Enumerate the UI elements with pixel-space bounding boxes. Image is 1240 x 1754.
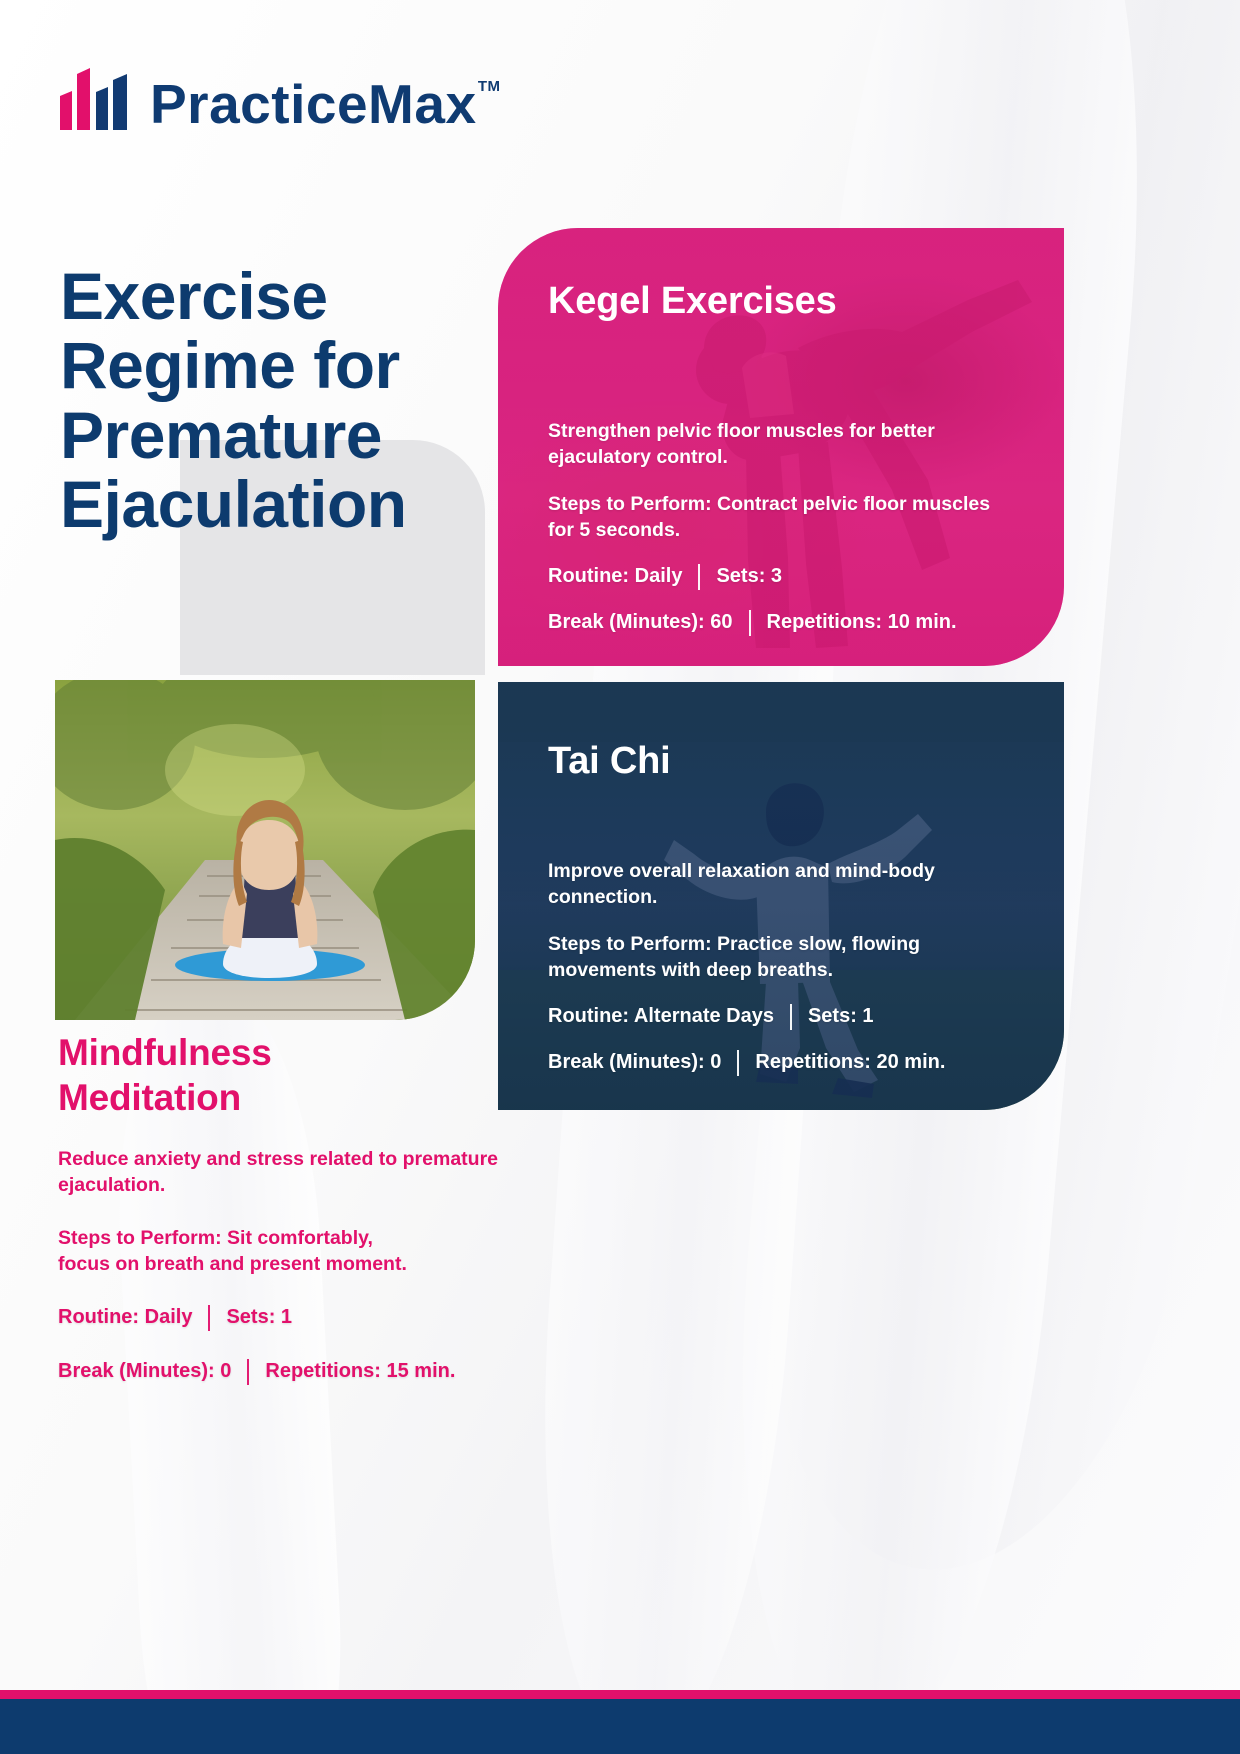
page-title-line-1: Exercise	[60, 259, 328, 333]
kegel-routine-row: Routine: Daily Sets: 3	[548, 564, 1018, 590]
exercise-card-kegel: Kegel Exercises Strengthen pelvic floor …	[498, 228, 1064, 666]
meditation-photo	[55, 680, 475, 1020]
meditation-sets-value: Sets: 1	[226, 1306, 292, 1329]
footer-bar	[0, 1699, 1240, 1754]
brand-name-text: PracticeMax	[150, 73, 477, 135]
divider-icon	[208, 1305, 210, 1331]
taichi-sets-value: Sets: 1	[808, 1005, 874, 1028]
brand-name: PracticeMax TM	[150, 77, 477, 132]
taichi-break-value: Break (Minutes): 0	[548, 1051, 721, 1074]
meditation-routine-value: Routine: Daily	[58, 1306, 192, 1329]
taichi-repetitions-value: Repetitions: 20 min.	[755, 1051, 945, 1074]
taichi-steps-text: Steps to Perform: Practice slow, flowing…	[548, 932, 1018, 983]
kegel-repetitions-value: Repetitions: 10 min.	[767, 611, 957, 634]
footer-accent-stripe	[0, 1690, 1240, 1699]
taichi-routine-row: Routine: Alternate Days Sets: 1	[548, 1004, 1018, 1030]
taichi-break-row: Break (Minutes): 0 Repetitions: 20 min.	[548, 1050, 1018, 1076]
bar-chart-logo-icon	[58, 66, 136, 132]
kegel-card-content: Kegel Exercises Strengthen pelvic floor …	[498, 228, 1064, 666]
taichi-card-content: Tai Chi Improve overall relaxation and m…	[498, 682, 1064, 1110]
meditation-steps-line-2: focus on breath and present moment.	[58, 1253, 407, 1275]
meditation-steps-text: Steps to Perform: Sit comfortably, focus…	[58, 1225, 528, 1277]
page-title-line-3: Premature	[60, 398, 382, 472]
kegel-break-value: Break (Minutes): 60	[548, 611, 733, 634]
meditation-heading: Mindfulness Meditation	[58, 1030, 528, 1120]
meditation-heading-line-2: Meditation	[58, 1077, 241, 1118]
meditation-routine-row: Routine: Daily Sets: 1	[58, 1305, 528, 1331]
divider-icon	[737, 1050, 739, 1076]
kegel-routine-value: Routine: Daily	[548, 565, 682, 588]
kegel-card-heading: Kegel Exercises	[548, 280, 1018, 323]
kegel-steps-text: Steps to Perform: Contract pelvic floor …	[548, 492, 1018, 543]
exercise-card-taichi: Tai Chi Improve overall relaxation and m…	[498, 682, 1064, 1110]
kegel-sets-value: Sets: 3	[716, 565, 782, 588]
divider-icon	[247, 1359, 249, 1385]
page-title: Exercise Regime for Premature Ejaculatio…	[60, 262, 490, 539]
meditation-heading-line-1: Mindfulness	[58, 1032, 272, 1073]
meditation-break-row: Break (Minutes): 0 Repetitions: 15 min.	[58, 1359, 528, 1385]
divider-icon	[698, 564, 700, 590]
meditation-steps-line-1: Steps to Perform: Sit comfortably,	[58, 1227, 373, 1249]
brand-logo: PracticeMax TM	[58, 66, 477, 132]
divider-icon	[790, 1004, 792, 1030]
page-title-line-4: Ejaculation	[60, 467, 407, 541]
meditation-benefit-text: Reduce anxiety and stress related to pre…	[58, 1146, 528, 1198]
poster-page: PracticeMax TM Exercise Regime for Prema…	[0, 0, 1240, 1754]
kegel-benefit-text: Strengthen pelvic floor muscles for bett…	[548, 419, 1018, 470]
kegel-break-row: Break (Minutes): 60 Repetitions: 10 min.	[548, 610, 1018, 636]
exercise-card-meditation: Mindfulness Meditation Reduce anxiety an…	[58, 1030, 528, 1385]
meditation-repetitions-value: Repetitions: 15 min.	[265, 1360, 455, 1383]
trademark-symbol: TM	[478, 79, 501, 94]
taichi-routine-value: Routine: Alternate Days	[548, 1005, 774, 1028]
taichi-card-heading: Tai Chi	[548, 740, 1018, 783]
divider-icon	[749, 610, 751, 636]
page-title-line-2: Regime for	[60, 328, 400, 402]
meditation-break-value: Break (Minutes): 0	[58, 1360, 231, 1383]
taichi-benefit-text: Improve overall relaxation and mind-body…	[548, 859, 1018, 910]
